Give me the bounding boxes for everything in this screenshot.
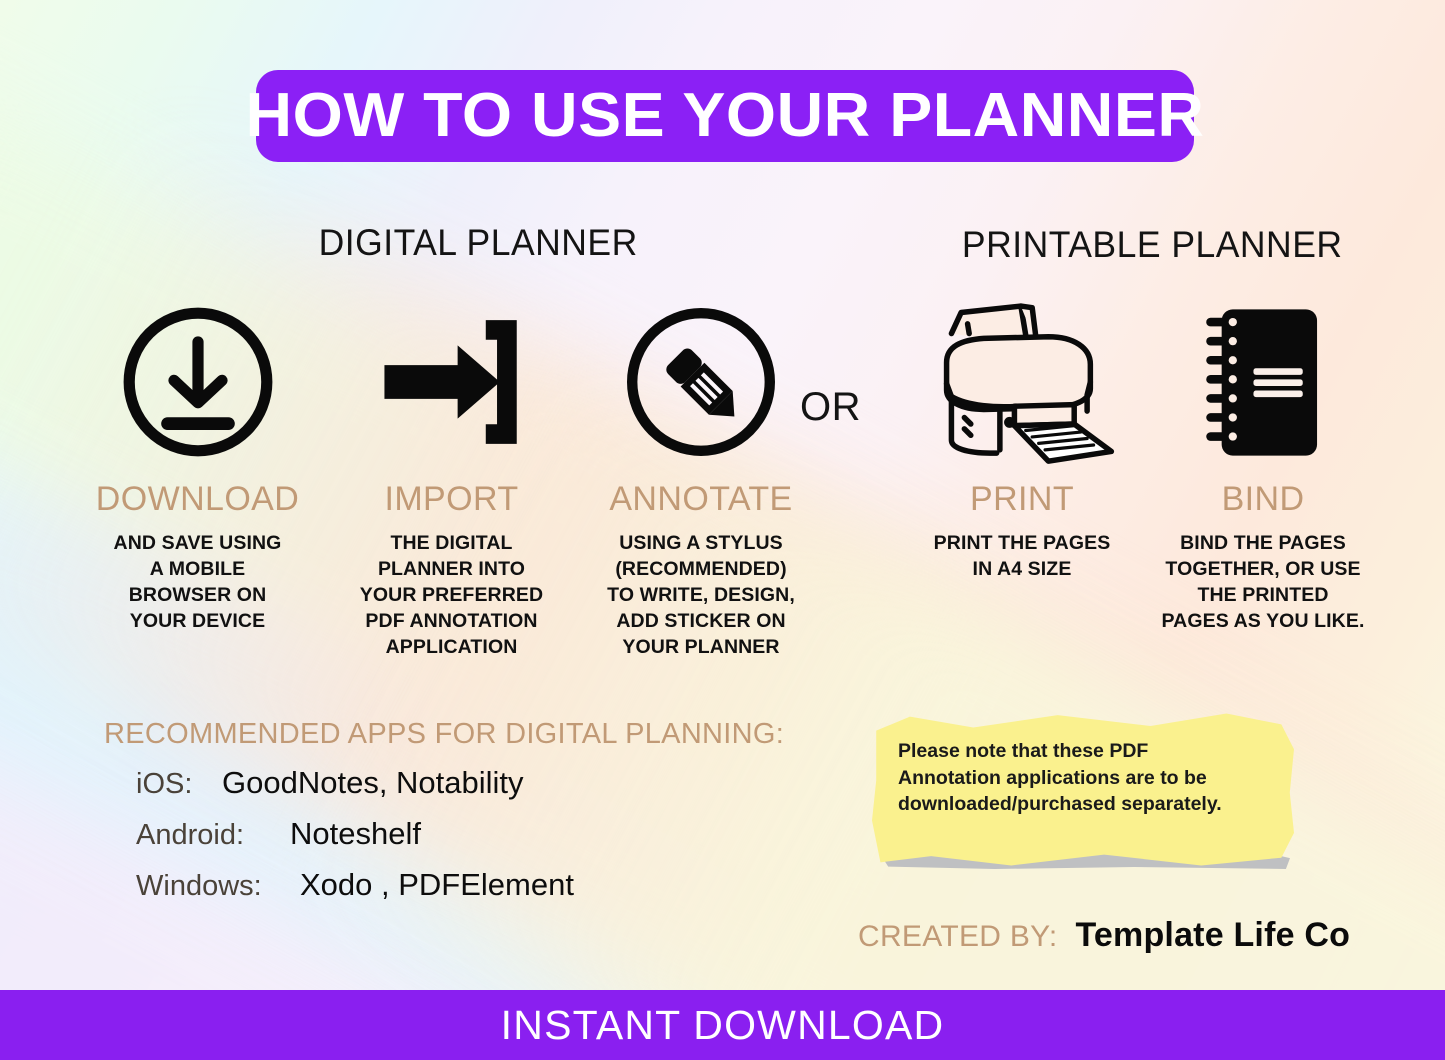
footer-text: INSTANT DOWNLOAD: [501, 1002, 945, 1049]
sticky-note: Please note that these PDF Annotation ap…: [872, 712, 1294, 867]
step-title: PRINT: [912, 480, 1132, 519]
download-circle-icon: [60, 292, 335, 472]
step-description: PRINT THE PAGESIN A4 SIZE: [912, 531, 1132, 583]
printer-icon: [912, 292, 1132, 472]
section-heading-printable: PRINTABLE PLANNER: [962, 224, 1343, 266]
app-platform-label: iOS:: [136, 768, 214, 801]
section-heading-digital: DIGITAL PLANNER: [319, 222, 638, 264]
step-description: AND SAVE USINGA MOBILEBROWSER ONYOUR DEV…: [60, 531, 335, 635]
app-names: Noteshelf: [290, 816, 421, 852]
step-title: ANNOTATE: [582, 480, 820, 519]
app-row: iOS: GoodNotes, Notability: [136, 765, 836, 802]
app-names: Xodo , PDFElement: [300, 867, 574, 903]
poster-canvas: HOW TO USE YOUR PLANNER DIGITAL PLANNER …: [0, 0, 1445, 1060]
spiral-notebook-icon: [1148, 292, 1378, 472]
step-description: BIND THE PAGESTOGETHER, OR USETHE PRINTE…: [1148, 531, 1378, 635]
sticky-note-text: Please note that these PDF Annotation ap…: [898, 738, 1248, 818]
created-by-label: CREATED BY:: [858, 920, 1057, 954]
recommended-apps-list: iOS: GoodNotes, Notability Android: Note…: [136, 765, 836, 918]
step-annotate: ANNOTATE USING A STYLUS(RECOMMENDED)TO W…: [582, 292, 820, 661]
app-row: Android: Noteshelf: [136, 816, 836, 853]
step-description: THE DIGITALPLANNER INTOYOUR PREFERREDPDF…: [344, 531, 559, 661]
import-arrow-icon: [344, 292, 559, 472]
step-download: DOWNLOAD AND SAVE USINGA MOBILEBROWSER O…: [60, 292, 335, 635]
recommended-apps-heading: RECOMMENDED APPS FOR DIGITAL PLANNING:: [104, 718, 784, 751]
created-by-brand: Template Life Co: [1075, 916, 1350, 955]
step-title: BIND: [1148, 480, 1378, 519]
step-title: IMPORT: [344, 480, 559, 519]
app-names: GoodNotes, Notability: [222, 765, 524, 801]
or-label: OR: [800, 385, 861, 430]
step-description: USING A STYLUS(RECOMMENDED)TO WRITE, DES…: [582, 531, 820, 661]
page-title: HOW TO USE YOUR PLANNER: [246, 85, 1205, 147]
step-bind: BIND BIND THE PAGESTOGETHER, OR USETHE P…: [1148, 292, 1378, 635]
app-platform-label: Windows:: [136, 870, 278, 903]
app-row: Windows: Xodo , PDFElement: [136, 867, 836, 904]
footer-bar: INSTANT DOWNLOAD: [0, 990, 1445, 1060]
title-banner: HOW TO USE YOUR PLANNER: [256, 70, 1194, 162]
created-by: CREATED BY: Template Life Co: [858, 916, 1350, 955]
step-title: DOWNLOAD: [60, 480, 335, 519]
app-platform-label: Android:: [136, 819, 276, 852]
annotate-pencil-circle-icon: [582, 292, 820, 472]
step-import: IMPORT THE DIGITALPLANNER INTOYOUR PREFE…: [344, 292, 559, 661]
step-print: PRINT PRINT THE PAGESIN A4 SIZE: [912, 292, 1132, 583]
